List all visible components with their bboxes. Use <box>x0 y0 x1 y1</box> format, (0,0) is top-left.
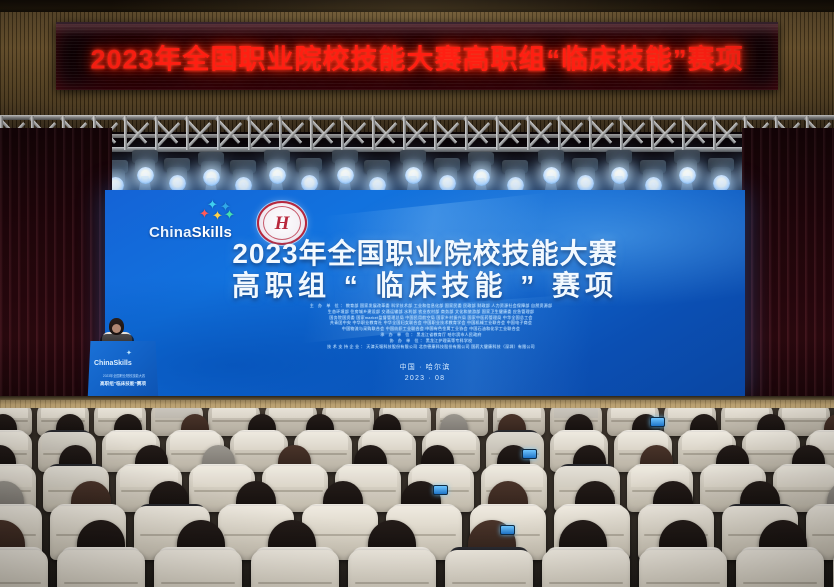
truss-web <box>186 117 214 149</box>
credit-value: 共青团中央 中华职业教育社 中华全国妇女联合会 中国职业技术教育学会 中国机械工… <box>330 320 532 325</box>
truss-web <box>465 117 493 149</box>
truss-web <box>403 117 431 149</box>
truss-post <box>310 116 313 150</box>
truss-post <box>248 116 251 150</box>
screen-venue-block: 中国 · 哈尔滨 2023 · 08 <box>105 362 745 384</box>
truss-web <box>310 117 338 149</box>
moving-head-light <box>196 152 226 192</box>
moving-head-light <box>604 150 634 190</box>
truss-post <box>465 116 468 150</box>
screen-credits-block: 主 办 单 位：教育部 国家发展改革委 科学技术部 工业和信息化部 国家民委 民… <box>139 303 723 349</box>
podium-title-line2: 高职组“临床技能”赛项 <box>91 381 155 387</box>
venue-date: 2023 · 08 <box>105 373 745 384</box>
truss-web <box>651 117 679 149</box>
truss-web <box>682 117 710 149</box>
credit-value: 教育部 国家发展改革委 科学技术部 工业和信息化部 国家民委 民政部 财政部 人… <box>346 303 552 308</box>
truss-web <box>713 117 741 149</box>
truss-post <box>558 116 561 150</box>
truss-web <box>279 117 307 149</box>
credit-value: 黑龙江省教育厅 哈尔滨市人民政府 <box>417 332 482 337</box>
chinaskills-stars-icon: ✦ ✦ ✦ ✦ ✦ <box>193 198 239 222</box>
truss-web <box>124 117 152 149</box>
auditorium-seat <box>57 550 145 587</box>
led-banner: 2023年全国职业院校技能大赛高职组“临床技能”赛项 <box>56 22 778 90</box>
truss-post <box>620 116 623 150</box>
audience-phone-screen <box>500 525 515 535</box>
truss-post <box>217 116 220 150</box>
truss-web <box>372 117 400 149</box>
credit-row: 技术支持企业：天津天堰科技股份有限公司 北京德康科技股份有限公司 国药大健康科技… <box>139 344 723 350</box>
screen-title-line2: 高职组 “ 临床技能 ” 赛项 <box>105 269 745 302</box>
audience-phone-screen <box>522 449 537 459</box>
truss-post <box>372 116 375 150</box>
truss-post <box>155 116 158 150</box>
podium-logo-text: ChinaSkills <box>94 360 132 367</box>
auditorium-seat <box>154 550 242 587</box>
auditorium-seat <box>251 550 339 587</box>
credit-label: 主 办 单 位： <box>310 303 346 308</box>
credit-value: 天津天堰科技股份有限公司 北京德康科技股份有限公司 国药大健康科技（深圳）有限公… <box>366 344 534 349</box>
auditorium-seat <box>445 550 533 587</box>
truss-post <box>496 116 499 150</box>
led-banner-text: 2023年全国职业院校技能大赛高职组“临床技能”赛项 <box>56 38 778 77</box>
truss-post <box>434 116 437 150</box>
truss-web <box>341 117 369 149</box>
credit-value: 生态环境部 住房城乡建设部 交通运输部 水利部 农业农村部 商务部 文化和旅游部… <box>328 309 534 314</box>
emblem-ring <box>263 206 301 240</box>
truss-web <box>558 117 586 149</box>
truss-web <box>527 117 555 149</box>
credit-label: 协 办 单 位： <box>390 338 426 343</box>
auditorium-photo: 2023年全国职业院校技能大赛高职组“临床技能”赛项 ✦ ✦ ✦ ✦ ✦ Chi… <box>0 0 834 587</box>
truss-post <box>403 116 406 150</box>
moving-head-light <box>466 152 496 192</box>
audience-seating <box>0 408 834 587</box>
podium-title-line1: 2023年全国职业院校技能大赛 <box>93 373 155 378</box>
auditorium-seat <box>736 550 824 587</box>
audience-phone-screen <box>650 417 665 427</box>
truss-web <box>155 117 183 149</box>
moving-head-light <box>398 150 428 190</box>
truss-post <box>186 116 189 150</box>
moving-head-light <box>536 150 566 190</box>
credit-label: 承 办 单 位： <box>380 332 416 337</box>
credit-value: 黑龙江护理高等专科学校 <box>426 338 473 343</box>
credit-label: 技术支持企业： <box>327 344 366 349</box>
truss-post <box>341 116 344 150</box>
truss-web <box>620 117 648 149</box>
audience-phone-screen <box>433 485 448 495</box>
truss-web <box>589 117 617 149</box>
auditorium-seat <box>639 550 727 587</box>
credit-value: 中国物流与采购联合会 中国纺织工业联合会 中国有色金属工业协会 中国石油和化学工… <box>342 326 520 331</box>
auditorium-seat <box>348 550 436 587</box>
venue-city: 中国 · 哈尔滨 <box>105 362 745 373</box>
truss-post <box>589 116 592 150</box>
truss-post <box>527 116 530 150</box>
truss-web <box>248 117 276 149</box>
truss-post <box>651 116 654 150</box>
truss-post <box>682 116 685 150</box>
truss-post <box>279 116 282 150</box>
moving-head-light <box>130 150 160 190</box>
podium-stars-icon: ✦ <box>126 349 132 357</box>
stage-curtain-right <box>742 128 834 428</box>
truss-web <box>496 117 524 149</box>
truss-post <box>124 116 127 150</box>
moving-head-light <box>330 150 360 190</box>
main-led-screen: ✦ ✦ ✦ ✦ ✦ ChinaSkills H 2023年全国职业院校技能大赛 … <box>105 190 745 396</box>
screen-title-block: 2023年全国职业院校技能大赛 高职组 “ 临床技能 ” 赛项 <box>105 238 745 302</box>
truss-web <box>434 117 462 149</box>
moving-head-light <box>672 150 702 190</box>
auditorium-seat <box>0 550 48 587</box>
truss-web <box>217 117 245 149</box>
screen-title-line1: 2023年全国职业院校技能大赛 <box>105 238 745 269</box>
credit-value: 国务院国资委 国家market监督管理总局 中国民用航空局 国家乡村振兴局 国家… <box>329 315 532 320</box>
auditorium-seat <box>542 550 630 587</box>
moving-head-light <box>262 150 292 190</box>
truss-post <box>713 116 716 150</box>
